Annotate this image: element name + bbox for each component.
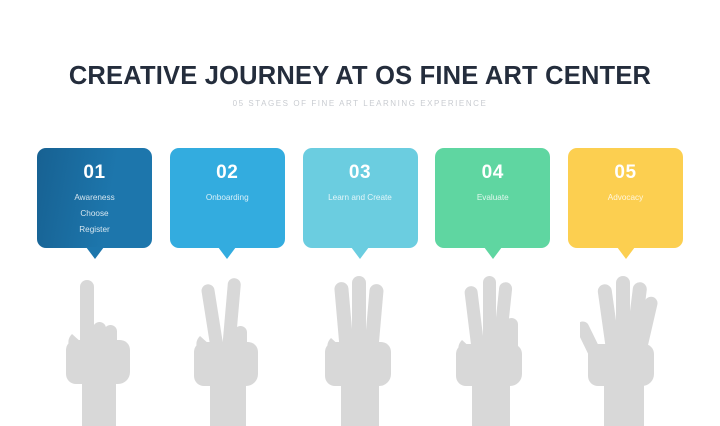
stage-number-01: 01 [37,163,152,183]
header: CREATIVE JOURNEY AT OS FINE ART CENTER 0… [0,62,720,108]
stage-lines-05: Advocacy [568,190,683,206]
page-title: CREATIVE JOURNEY AT OS FINE ART CENTER [0,62,720,90]
stage-line: Evaluate [441,190,544,206]
stage-card-05[interactable]: 05 Advocacy [568,148,683,248]
stage-line: Onboarding [176,190,279,206]
hand-two-fingers-icon [192,262,262,426]
stage-item-02[interactable]: 02 Onboarding [170,148,285,248]
stage-number-03: 03 [303,163,418,183]
stage-card-tail-03 [351,247,369,259]
stage-lines-02: Onboarding [170,190,285,206]
stage-lines-01: Awareness Choose Register [37,190,152,238]
stage-card-01[interactable]: 01 Awareness Choose Register [37,148,152,248]
page-subtitle: 05 STAGES OF FINE ART LEARNING EXPERIENC… [0,99,720,108]
stage-card-tail-02 [218,247,236,259]
hand-five-fingers-icon [580,262,660,426]
stage-card-04[interactable]: 04 Evaluate [435,148,550,248]
stage-card-tail-01 [86,247,104,259]
stage-line: Awareness [43,190,146,206]
stage-number-02: 02 [170,163,285,183]
hand-one-finger-icon [62,262,132,426]
stage-item-03[interactable]: 03 Learn and Create [303,148,418,248]
hand-illustration-row [0,262,720,426]
stage-card-tail-04 [484,247,502,259]
stage-item-01[interactable]: 01 Awareness Choose Register [37,148,152,248]
stage-card-02[interactable]: 02 Onboarding [170,148,285,248]
stage-lines-03: Learn and Create [303,190,418,206]
stage-item-04[interactable]: 04 Evaluate [435,148,550,248]
stage-line: Choose [43,206,146,222]
stage-lines-04: Evaluate [435,190,550,206]
stage-number-04: 04 [435,163,550,183]
stage-card-tail-05 [617,247,635,259]
stage-card-row: 01 Awareness Choose Register 02 Onboardi… [37,148,683,258]
stage-item-05[interactable]: 05 Advocacy [568,148,683,248]
stage-line: Advocacy [574,190,677,206]
stage-line: Learn and Create [309,190,412,206]
stage-number-05: 05 [568,163,683,183]
stage-card-03[interactable]: 03 Learn and Create [303,148,418,248]
hand-three-fingers-icon [322,262,394,426]
hand-four-fingers-icon [452,262,524,426]
infographic-canvas: CREATIVE JOURNEY AT OS FINE ART CENTER 0… [0,0,720,426]
stage-line: Register [43,222,146,238]
